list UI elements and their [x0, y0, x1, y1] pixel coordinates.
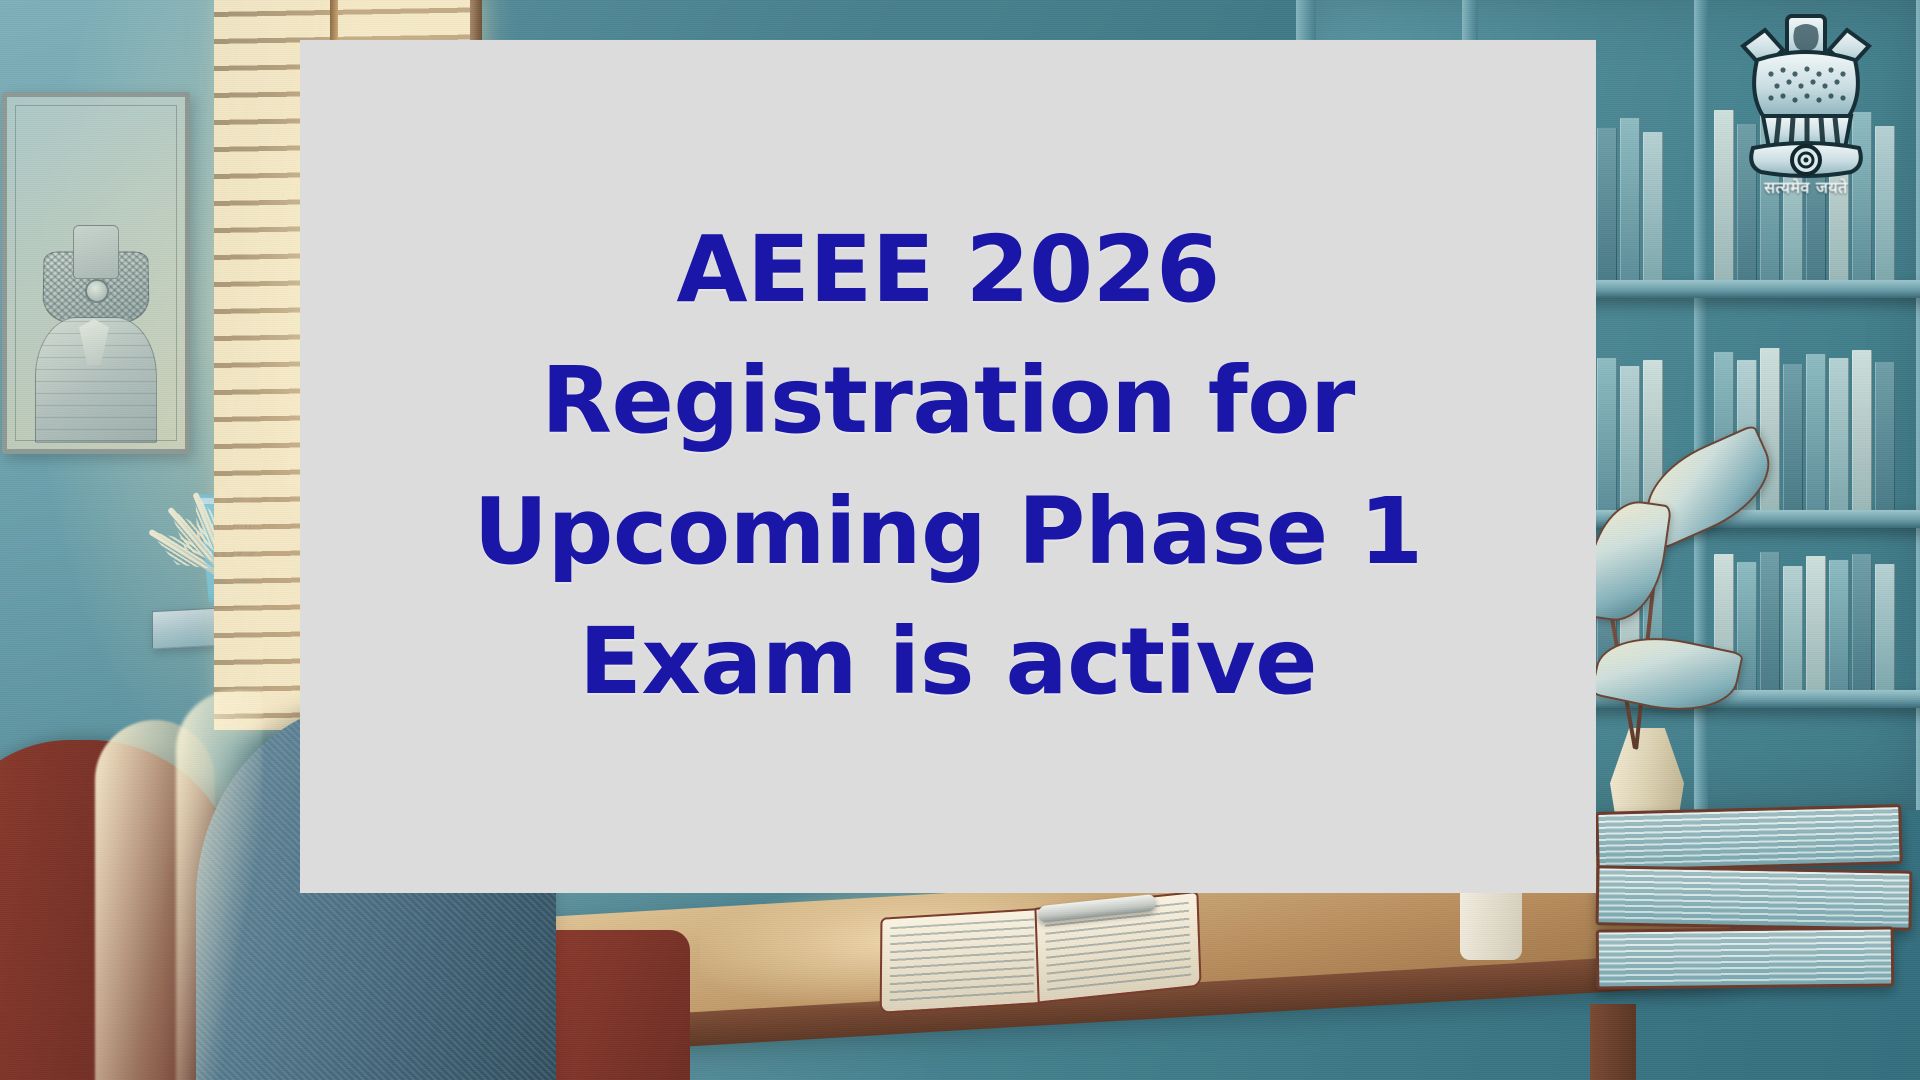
portrait-torso: [35, 317, 157, 443]
portrait-head: [73, 225, 119, 279]
portrait-turban: [42, 252, 149, 324]
banner-image: सत्यमेव जयते AEEE 2026 Registration for …: [0, 0, 1920, 1080]
portrait-figure: [33, 217, 157, 441]
headline-line-3: Upcoming Phase 1: [473, 467, 1422, 598]
emblem-caption: सत्यमेव जयते: [1731, 176, 1881, 198]
portrait-collar: [79, 319, 109, 365]
person-highlight: [176, 690, 262, 1080]
stacked-book: [1595, 804, 1902, 872]
mug: [1460, 888, 1522, 960]
headline-line-1: AEEE 2026: [473, 205, 1422, 336]
desk-leg: [1590, 1004, 1636, 1080]
page-title: AEEE 2026 Registration for Upcoming Phas…: [433, 205, 1462, 728]
books-shelf-row: [1714, 546, 1920, 690]
stacked-book: [1596, 926, 1895, 989]
headline-panel: AEEE 2026 Registration for Upcoming Phas…: [300, 40, 1596, 893]
headline-line-4: Exam is active: [473, 597, 1422, 728]
headline-line-2: Registration for: [473, 336, 1422, 467]
national-emblem-of-india-icon: सत्यमेव जयते: [1731, 8, 1881, 208]
portrait-medallion: [85, 279, 109, 303]
stacked-book: [1596, 865, 1913, 931]
